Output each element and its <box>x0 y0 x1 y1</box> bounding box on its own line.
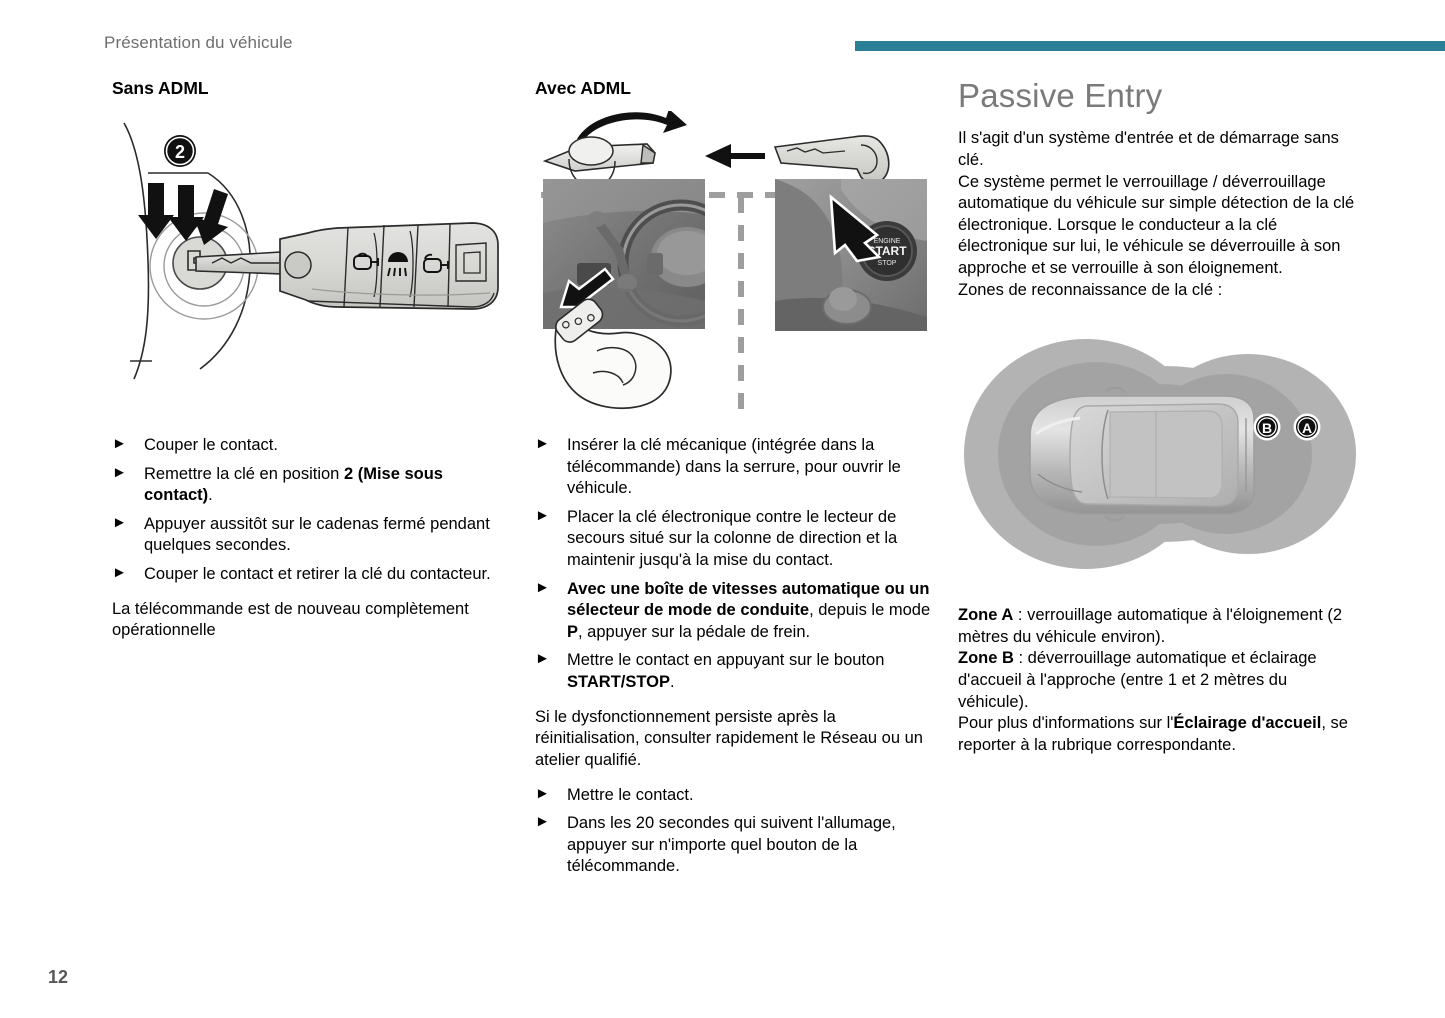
three-down-arrows <box>138 183 228 245</box>
zone-label-b-text: B <box>1262 420 1272 436</box>
arrow-bullet-icon: ► <box>112 434 127 454</box>
column-left: Sans ADML <box>112 78 512 655</box>
mechanical-key <box>775 136 889 183</box>
key-in-ignition-svg: 2 <box>112 111 512 411</box>
list-item-text: Avec une boîte de vitesses automatique o… <box>567 580 930 641</box>
arrow-bullet-icon: ► <box>112 563 127 583</box>
welcome-lighting-note: Pour plus d'informations sur l'Éclairage… <box>958 713 1356 756</box>
zone-b-description: Zone B : déverrouillage automatique et é… <box>958 648 1356 713</box>
list-item-text: Appuyer aussitôt sur le cadenas fermé pe… <box>144 515 490 555</box>
list-item-text: Remettre la clé en position 2 (Mise sous… <box>144 465 443 505</box>
adml-procedure-illustration: ENGINE START STOP <box>535 111 935 413</box>
list-item-text: Insérer la clé mécanique (intégrée dans … <box>567 436 901 497</box>
arrow-bullet-icon: ► <box>112 513 127 533</box>
car-top-view <box>1030 388 1254 521</box>
middle-paragraph: Si le dysfonctionnement persiste après l… <box>535 707 935 772</box>
list-item: ► Insérer la clé mécanique (intégrée dan… <box>535 435 935 500</box>
right-intro-3: Zones de reconnaissance de la clé : <box>958 280 1356 302</box>
step-badge-label: 2 <box>175 142 185 162</box>
arrow-bullet-icon: ► <box>535 812 550 832</box>
page-title: Passive Entry <box>958 78 1356 114</box>
flip-key-remote <box>280 223 498 309</box>
list-item-text: Dans les 20 secondes qui suivent l'allum… <box>567 814 896 875</box>
list-item-text: Couper le contact et retirer la clé du c… <box>144 565 491 583</box>
list-item: ► Couper le contact. <box>112 435 512 457</box>
detection-zones-diagram: B A <box>958 314 1356 589</box>
list-item-text: Mettre le contact. <box>567 786 694 804</box>
list-item: ► Appuyer aussitôt sur le cadenas fermé … <box>112 514 512 557</box>
left-column-heading: Sans ADML <box>112 78 512 99</box>
running-head: Présentation du véhicule <box>104 33 293 53</box>
list-item: ► Mettre le contact en appuyant sur le b… <box>535 650 935 693</box>
list-item: ► Couper le contact et retirer la clé du… <box>112 564 512 586</box>
middle-column-heading: Avec ADML <box>535 78 935 99</box>
column-right: Passive Entry Il s'agit d'un système d'e… <box>958 78 1356 769</box>
list-item-text: Couper le contact. <box>144 436 278 454</box>
insert-arrow-icon <box>705 144 765 168</box>
arrow-bullet-icon: ► <box>112 463 127 483</box>
arrow-bullet-icon: ► <box>535 784 550 804</box>
arrow-bullet-icon: ► <box>535 506 550 526</box>
list-item-text: Placer la clé électronique contre le lec… <box>567 508 897 569</box>
adml-procedure-svg: ENGINE START STOP <box>535 111 935 413</box>
right-intro-1: Il s'agit d'un système d'entrée et de dé… <box>958 128 1356 171</box>
list-item-text: Mettre le contact en appuyant sur le bou… <box>567 651 884 691</box>
header-rule <box>855 41 1445 51</box>
right-intro-2: Ce système permet le verrouillage / déve… <box>958 172 1356 280</box>
zone-label-a-text: A <box>1302 420 1312 436</box>
left-paragraph: La télécommande est de nouveau complètem… <box>112 599 512 642</box>
zone-label-b: B <box>1254 414 1281 441</box>
arrow-bullet-icon: ► <box>535 434 550 454</box>
start-stop-label-stop: STOP <box>878 260 897 267</box>
detection-zones-svg: B A <box>958 314 1356 589</box>
middle-bullet-list-2: ► Mettre le contact. ► Dans les 20 secon… <box>535 785 935 878</box>
arrow-bullet-icon: ► <box>535 649 550 669</box>
column-middle: Avec ADML <box>535 78 935 891</box>
list-item: ► Placer la clé électronique contre le l… <box>535 507 935 572</box>
list-item: ► Mettre le contact. <box>535 785 935 807</box>
page-number: 12 <box>48 967 68 988</box>
list-item: ► Dans les 20 secondes qui suivent l'all… <box>535 813 935 878</box>
list-item: ► Remettre la clé en position 2 (Mise so… <box>112 464 512 507</box>
zone-a-description: Zone A : verrouillage automatique à l'él… <box>958 605 1356 648</box>
list-item: ► Avec une boîte de vitesses automatique… <box>535 579 935 644</box>
arrow-bullet-icon: ► <box>535 578 550 598</box>
zone-label-a: A <box>1294 414 1321 441</box>
key-in-ignition-illustration: 2 <box>112 111 512 411</box>
middle-bullet-list-1: ► Insérer la clé mécanique (intégrée dan… <box>535 435 935 694</box>
left-bullet-list: ► Couper le contact. ► Remettre la clé e… <box>112 435 512 586</box>
